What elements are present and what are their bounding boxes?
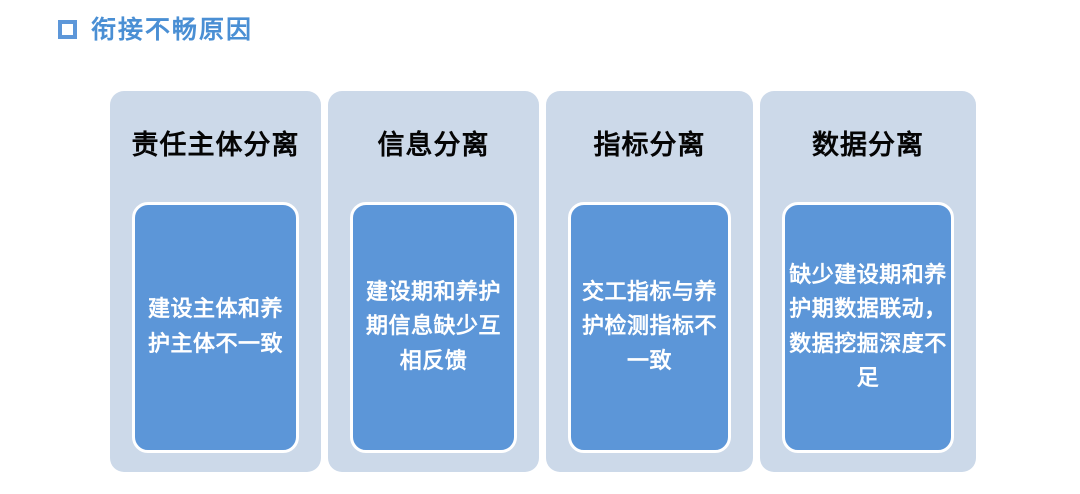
reason-card-1-header: 责任主体分离 — [132, 132, 300, 159]
reason-card-1-body: 建设主体和养护主体不一致 — [132, 202, 299, 453]
reason-card-4-body-text: 缺少建设期和养护期数据联动，数据挖掘深度不足 — [789, 259, 947, 395]
reason-card-2[interactable]: 信息分离 建设期和养护期信息缺少互相反馈 — [328, 91, 539, 472]
reason-card-4-body: 缺少建设期和养护期数据联动，数据挖掘深度不足 — [782, 202, 954, 453]
reason-card-2-body-text: 建设期和养护期信息缺少互相反馈 — [357, 276, 510, 378]
reason-card-2-header: 信息分离 — [378, 132, 490, 159]
reason-card-3-body: 交工指标与养护检测指标不一致 — [568, 202, 731, 453]
page-title: 衔接不畅原因 — [58, 17, 253, 42]
square-outline-icon — [58, 20, 77, 39]
reason-card-2-body: 建设期和养护期信息缺少互相反馈 — [350, 202, 517, 453]
reason-card-3-body-text: 交工指标与养护检测指标不一致 — [575, 276, 724, 378]
reason-card-4[interactable]: 数据分离 缺少建设期和养护期数据联动，数据挖掘深度不足 — [760, 91, 976, 472]
reason-card-4-header: 数据分离 — [812, 132, 924, 159]
reason-card-row: 责任主体分离 建设主体和养护主体不一致 信息分离 建设期和养护期信息缺少互相反馈… — [110, 91, 976, 472]
reason-card-3-header: 指标分离 — [594, 132, 706, 159]
reason-card-1[interactable]: 责任主体分离 建设主体和养护主体不一致 — [110, 91, 321, 472]
page-title-label: 衔接不畅原因 — [91, 17, 253, 42]
reason-card-3[interactable]: 指标分离 交工指标与养护检测指标不一致 — [546, 91, 753, 472]
reason-card-1-body-text: 建设主体和养护主体不一致 — [139, 293, 292, 361]
